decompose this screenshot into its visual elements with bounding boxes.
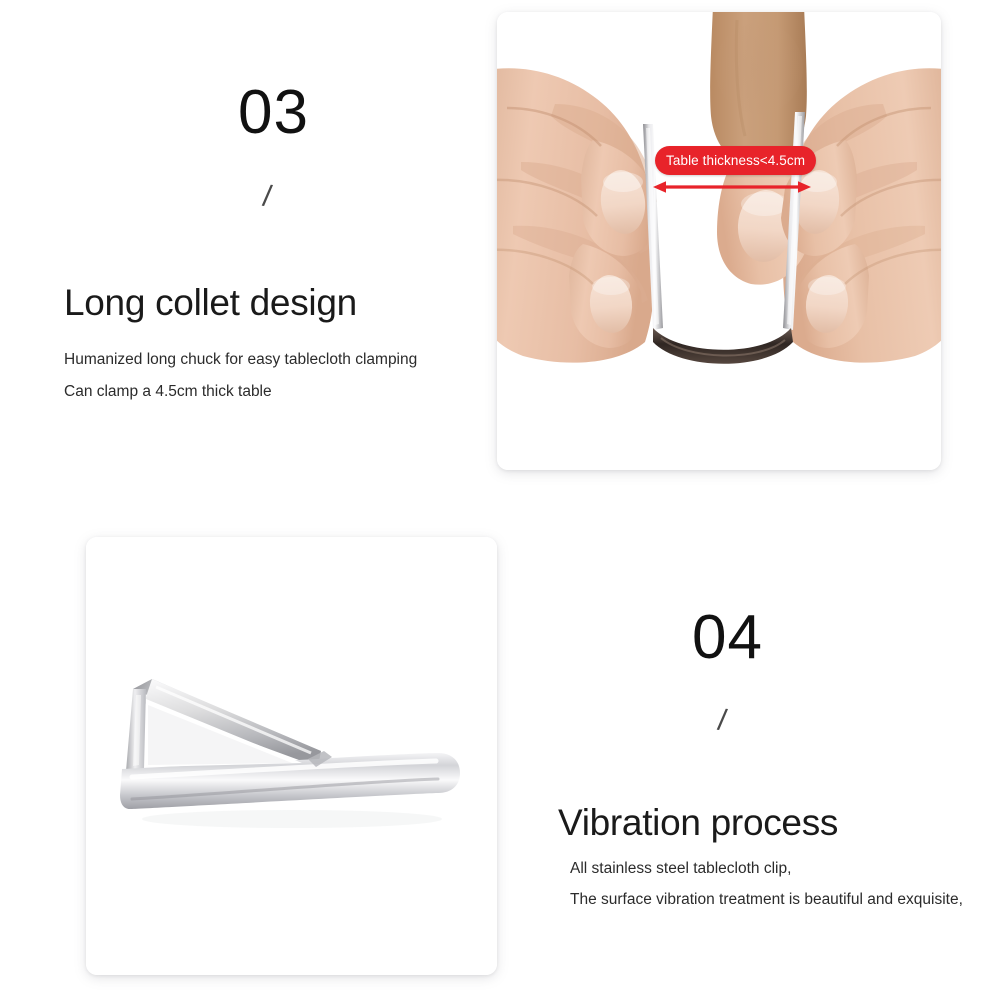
hands-photo: Table thickness<4.5cm	[497, 12, 941, 470]
hands-holding-open-clip-illustration	[497, 12, 941, 470]
section-number-04: 04	[692, 607, 763, 669]
divider-slash-04: /	[716, 706, 728, 737]
double-headed-arrow-icon	[653, 179, 811, 195]
section-03-text-block: 03 / Long collet design Humanized long c…	[0, 0, 500, 500]
photo-card-hands-holding-clip: Table thickness<4.5cm	[497, 12, 941, 470]
section-description-line-1-03: Humanized long chuck for easy tablecloth…	[64, 352, 417, 368]
section-headline-03: Long collet design	[64, 283, 357, 324]
stainless-steel-clip-illustration	[86, 537, 497, 975]
section-description-line-1-04: All stainless steel tablecloth clip,	[570, 861, 791, 877]
photo-card-steel-clip	[86, 537, 497, 975]
product-infographic-page: 03 / Long collet design Humanized long c…	[0, 0, 1001, 1001]
section-number-03: 03	[238, 82, 309, 144]
section-description-line-2-03: Can clamp a 4.5cm thick table	[64, 384, 272, 400]
section-04-text-block: 04 / Vibration process All stainless ste…	[500, 500, 1001, 1001]
section-headline-04: Vibration process	[558, 803, 838, 844]
section-description-line-2-04: The surface vibration treatment is beaut…	[570, 892, 963, 908]
divider-slash-03: /	[261, 182, 273, 213]
measurement-arrow-wrap	[653, 179, 811, 195]
clip-product-photo	[86, 537, 497, 975]
table-thickness-badge: Table thickness<4.5cm	[655, 146, 816, 175]
